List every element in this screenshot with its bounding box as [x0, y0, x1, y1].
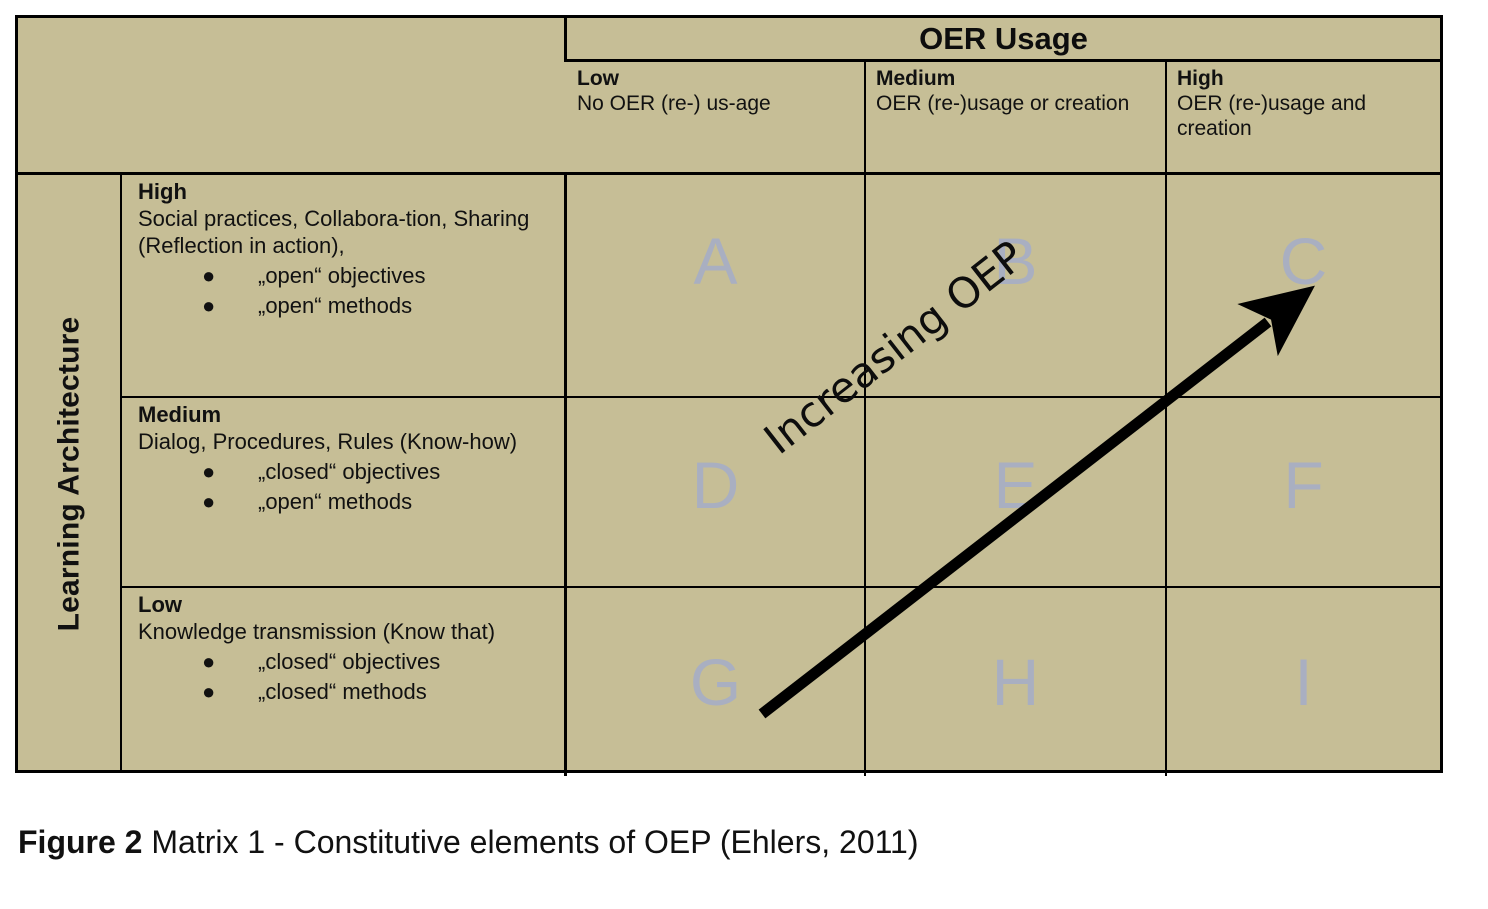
- matrix-cell-c: C: [1167, 175, 1440, 396]
- list-item-label: „closed“ methods: [258, 679, 427, 704]
- matrix-header-top: OER Usage: [18, 18, 1440, 62]
- column-header-medium-desc: OER (re-)usage or creation: [876, 92, 1129, 115]
- oep-matrix-table: OER Usage Low No OER (re-) us-age Medium…: [15, 15, 1443, 773]
- list-item: ●„closed“ objectives: [138, 457, 558, 487]
- matrix-cell-h-label: H: [992, 649, 1040, 715]
- column-header-medium-level: Medium: [876, 66, 1157, 91]
- matrix-cell-f: F: [1167, 398, 1440, 586]
- figure-caption-text: Matrix 1 - Constitutive elements of OEP …: [142, 824, 918, 860]
- matrix-cell-b-label: B: [993, 228, 1037, 294]
- list-item: ●„closed“ objectives: [138, 647, 558, 677]
- list-item-label: „open“ methods: [258, 489, 412, 514]
- matrix-cell-g-label: G: [690, 649, 741, 715]
- table-row: Medium Dialog, Procedures, Rules (Know-h…: [122, 398, 1440, 588]
- matrix-body-grid: High Social practices, Collabora-tion, S…: [122, 172, 1440, 773]
- column-axis-title: OER Usage: [567, 18, 1440, 62]
- matrix-cell-i: I: [1167, 588, 1440, 776]
- figure-2-root: OER Usage Low No OER (re-) us-age Medium…: [0, 0, 1488, 904]
- row-header-high-bullets: ●„open“ objectives ●„open“ methods: [138, 261, 558, 321]
- row-header-high-desc: Social practices, Collabora-tion, Sharin…: [138, 205, 558, 259]
- row-axis-spine: Learning Architecture: [18, 172, 122, 773]
- bullet-icon: ●: [202, 487, 215, 517]
- row-header-low-level: Low: [138, 591, 558, 618]
- matrix-cell-c-label: C: [1280, 228, 1328, 294]
- matrix-cell-b: B: [866, 175, 1167, 396]
- list-item: ●„open“ methods: [138, 487, 558, 517]
- row-header-low: Low Knowledge transmission (Know that) ●…: [122, 588, 567, 776]
- list-item: ●„open“ methods: [138, 291, 558, 321]
- figure-caption-label: Figure 2: [18, 824, 142, 860]
- column-header-low-desc: No OER (re-) us-age: [577, 92, 771, 115]
- row-header-low-desc: Knowledge transmission (Know that): [138, 618, 558, 645]
- row-header-high-level: High: [138, 178, 558, 205]
- column-header-low: Low No OER (re-) us-age: [567, 62, 866, 172]
- table-row: High Social practices, Collabora-tion, S…: [122, 175, 1440, 398]
- column-header-high-desc: OER (re-)usage and creation: [1177, 92, 1366, 140]
- bullet-icon: ●: [202, 457, 215, 487]
- bullet-icon: ●: [202, 261, 215, 291]
- list-item: ●„open“ objectives: [138, 261, 558, 291]
- list-item-label: „open“ methods: [258, 293, 412, 318]
- matrix-cell-d: D: [567, 398, 866, 586]
- column-header-high: High OER (re-)usage and creation: [1167, 62, 1440, 172]
- matrix-cell-e: E: [866, 398, 1167, 586]
- list-item-label: „closed“ objectives: [258, 649, 440, 674]
- matrix-cell-a: A: [567, 175, 866, 396]
- bullet-icon: ●: [202, 647, 215, 677]
- list-item: ●„closed“ methods: [138, 677, 558, 707]
- header-corner-blank: [18, 18, 567, 62]
- table-row: Low Knowledge transmission (Know that) ●…: [122, 588, 1440, 776]
- list-item-label: „closed“ objectives: [258, 459, 440, 484]
- list-item-label: „open“ objectives: [258, 263, 426, 288]
- figure-caption: Figure 2 Matrix 1 - Constitutive element…: [18, 824, 1468, 861]
- matrix-header-subrow: Low No OER (re-) us-age Medium OER (re-)…: [567, 62, 1440, 172]
- row-axis-title: Learning Architecture: [52, 317, 86, 632]
- row-header-low-bullets: ●„closed“ objectives ●„closed“ methods: [138, 647, 558, 707]
- matrix-cell-i-label: I: [1294, 649, 1312, 715]
- bullet-icon: ●: [202, 677, 215, 707]
- matrix-cell-g: G: [567, 588, 866, 776]
- row-header-high: High Social practices, Collabora-tion, S…: [122, 175, 567, 396]
- matrix-cell-a-label: A: [693, 228, 737, 294]
- matrix-cell-f-label: F: [1283, 452, 1323, 518]
- matrix-cell-h: H: [866, 588, 1167, 776]
- column-header-high-level: High: [1177, 66, 1432, 91]
- bullet-icon: ●: [202, 291, 215, 321]
- row-header-medium: Medium Dialog, Procedures, Rules (Know-h…: [122, 398, 567, 586]
- column-header-low-level: Low: [577, 66, 856, 91]
- matrix-cell-e-label: E: [993, 452, 1037, 518]
- row-header-medium-bullets: ●„closed“ objectives ●„open“ methods: [138, 457, 558, 517]
- row-header-medium-desc: Dialog, Procedures, Rules (Know-how): [138, 428, 558, 455]
- column-header-medium: Medium OER (re-)usage or creation: [866, 62, 1167, 172]
- matrix-cell-d-label: D: [692, 452, 740, 518]
- row-header-medium-level: Medium: [138, 401, 558, 428]
